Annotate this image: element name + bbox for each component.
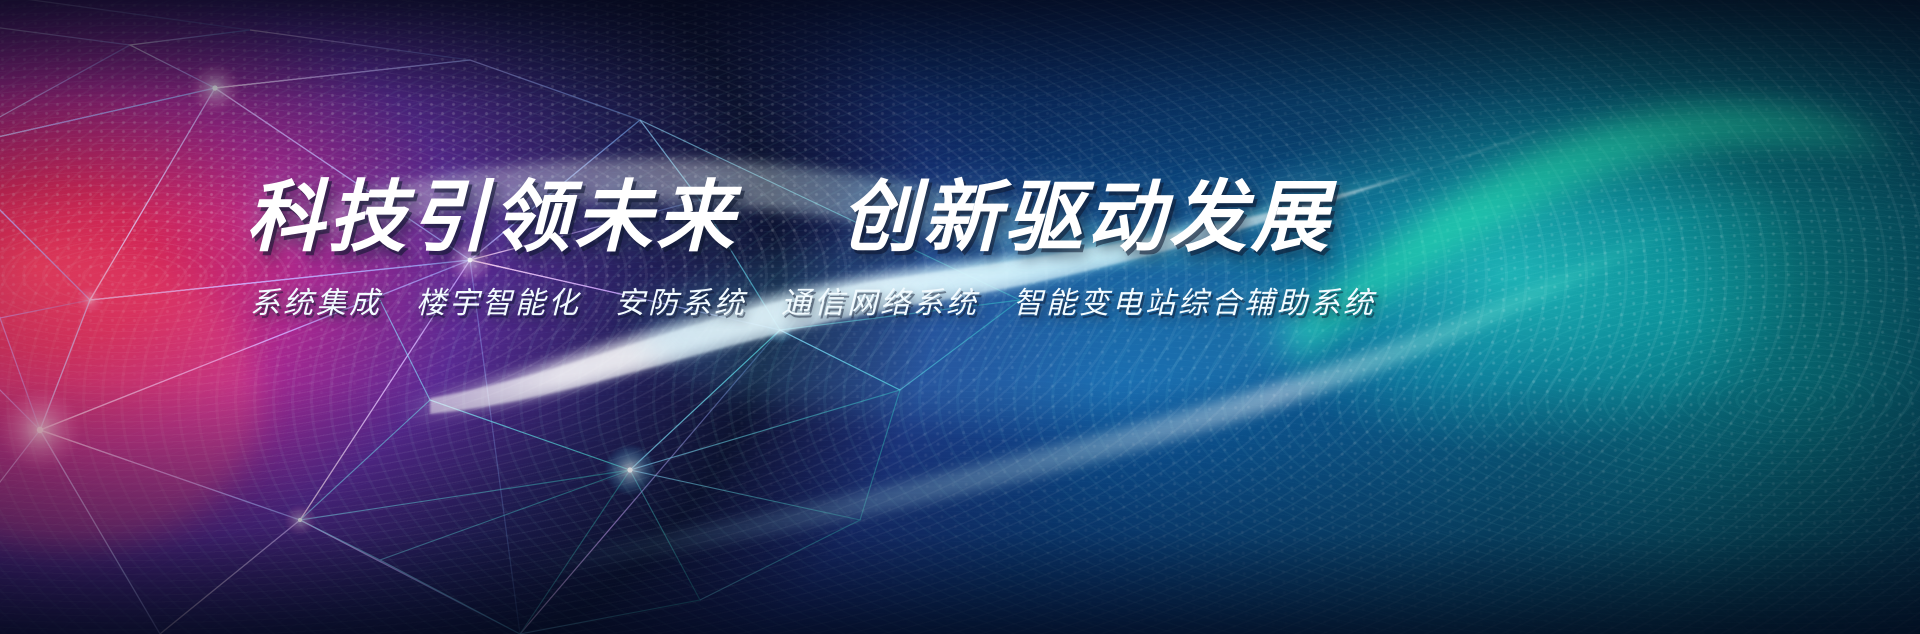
banner-headline: 科技引领未来 创新驱动发展	[246, 178, 1376, 256]
tech-banner: 科技引领未来 创新驱动发展 系统集成 楼宇智能化 安防系统 通信网络系统 智能变…	[0, 0, 1920, 634]
banner-copy: 科技引领未来 创新驱动发展 系统集成 楼宇智能化 安防系统 通信网络系统 智能变…	[246, 178, 1376, 322]
banner-subline: 系统集成 楼宇智能化 安防系统 通信网络系统 智能变电站综合辅助系统	[250, 278, 1376, 322]
